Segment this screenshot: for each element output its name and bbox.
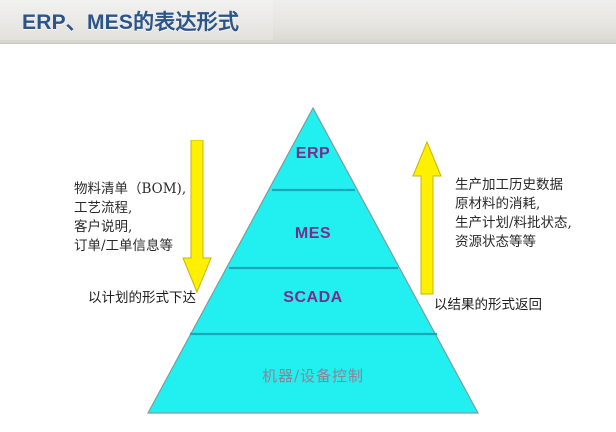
- arrow-up-shape: [413, 142, 441, 294]
- left-caption: 以计划的形式下达: [88, 286, 196, 306]
- right-output-item: 生产加工历史数据: [455, 176, 572, 195]
- right-output-item: 生产计划/料批状态,: [455, 214, 572, 233]
- right-caption: 以结果的形式返回: [434, 293, 542, 313]
- right-output-item: 资源状态等等: [455, 233, 572, 252]
- tier-label-scada-text: SCADA: [283, 289, 342, 307]
- tier-label-mes-text: MES: [295, 225, 331, 243]
- slide-canvas: ERP、MES的表达形式 ERP MES SCADA 机器/设备控制 物料清单（…: [0, 0, 616, 432]
- right-output-list: 生产加工历史数据 原材料的消耗, 生产计划/料批状态, 资源状态等等: [455, 176, 572, 252]
- arrow-up-icon: [408, 140, 446, 295]
- left-input-item: 客户说明,: [74, 218, 186, 237]
- tier-label-erp-text: ERP: [296, 145, 330, 163]
- left-input-item: 工艺流程,: [74, 199, 186, 218]
- tier-label-machine: 机器/设备控制: [5, 365, 616, 386]
- left-input-list: 物料清单（BOM), 工艺流程, 客户说明, 订单/工单信息等: [74, 180, 186, 256]
- page-title: ERP、MES的表达形式: [22, 6, 239, 36]
- header-divider: [0, 43, 616, 44]
- left-input-item: 物料清单（BOM),: [74, 180, 186, 199]
- left-input-item: 订单/工单信息等: [74, 237, 186, 256]
- right-output-item: 原材料的消耗,: [455, 195, 572, 214]
- arrow-down-shape: [183, 140, 211, 292]
- tier-label-machine-text: 机器/设备控制: [262, 365, 364, 386]
- tier-label-erp: ERP: [5, 145, 616, 163]
